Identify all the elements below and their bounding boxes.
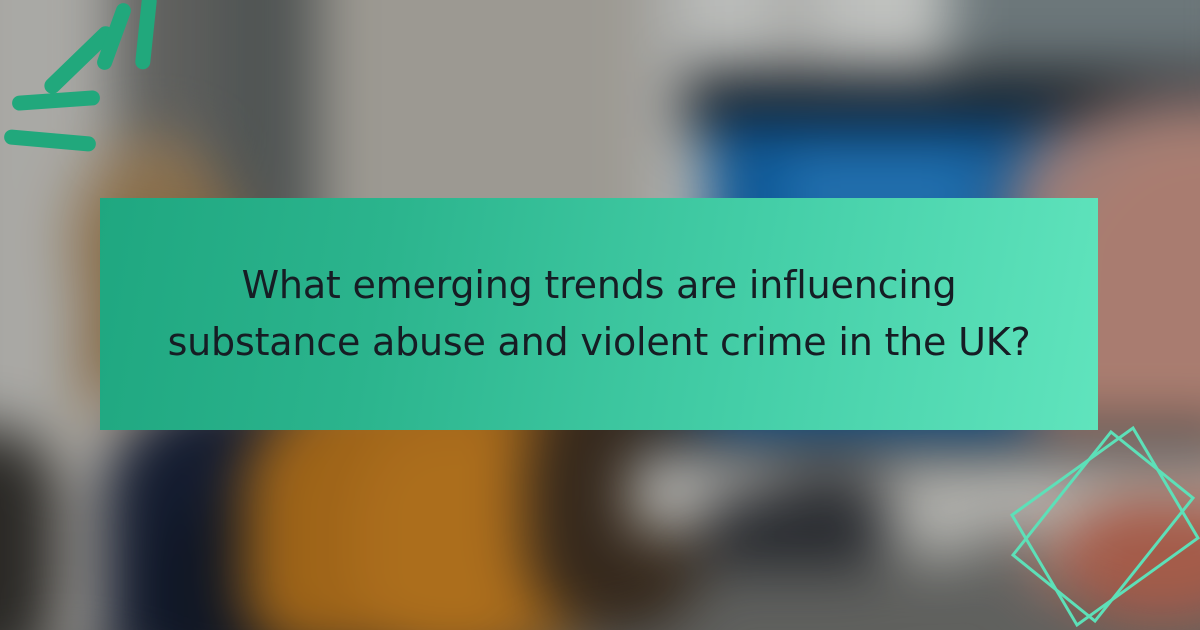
sparkle-burst-icon: [0, 0, 190, 170]
rotated-squares-icon: [985, 418, 1200, 630]
sparkle-ray-5: [135, 0, 158, 70]
quote-banner: What emerging trends are influencing sub…: [100, 198, 1098, 430]
quote-text: What emerging trends are influencing sub…: [168, 257, 1031, 371]
sparkle-ray-2: [4, 129, 97, 152]
social-card: What emerging trends are influencing sub…: [0, 0, 1200, 630]
square-outline-2: [1013, 432, 1193, 621]
sparkle-ray-1: [12, 90, 101, 111]
